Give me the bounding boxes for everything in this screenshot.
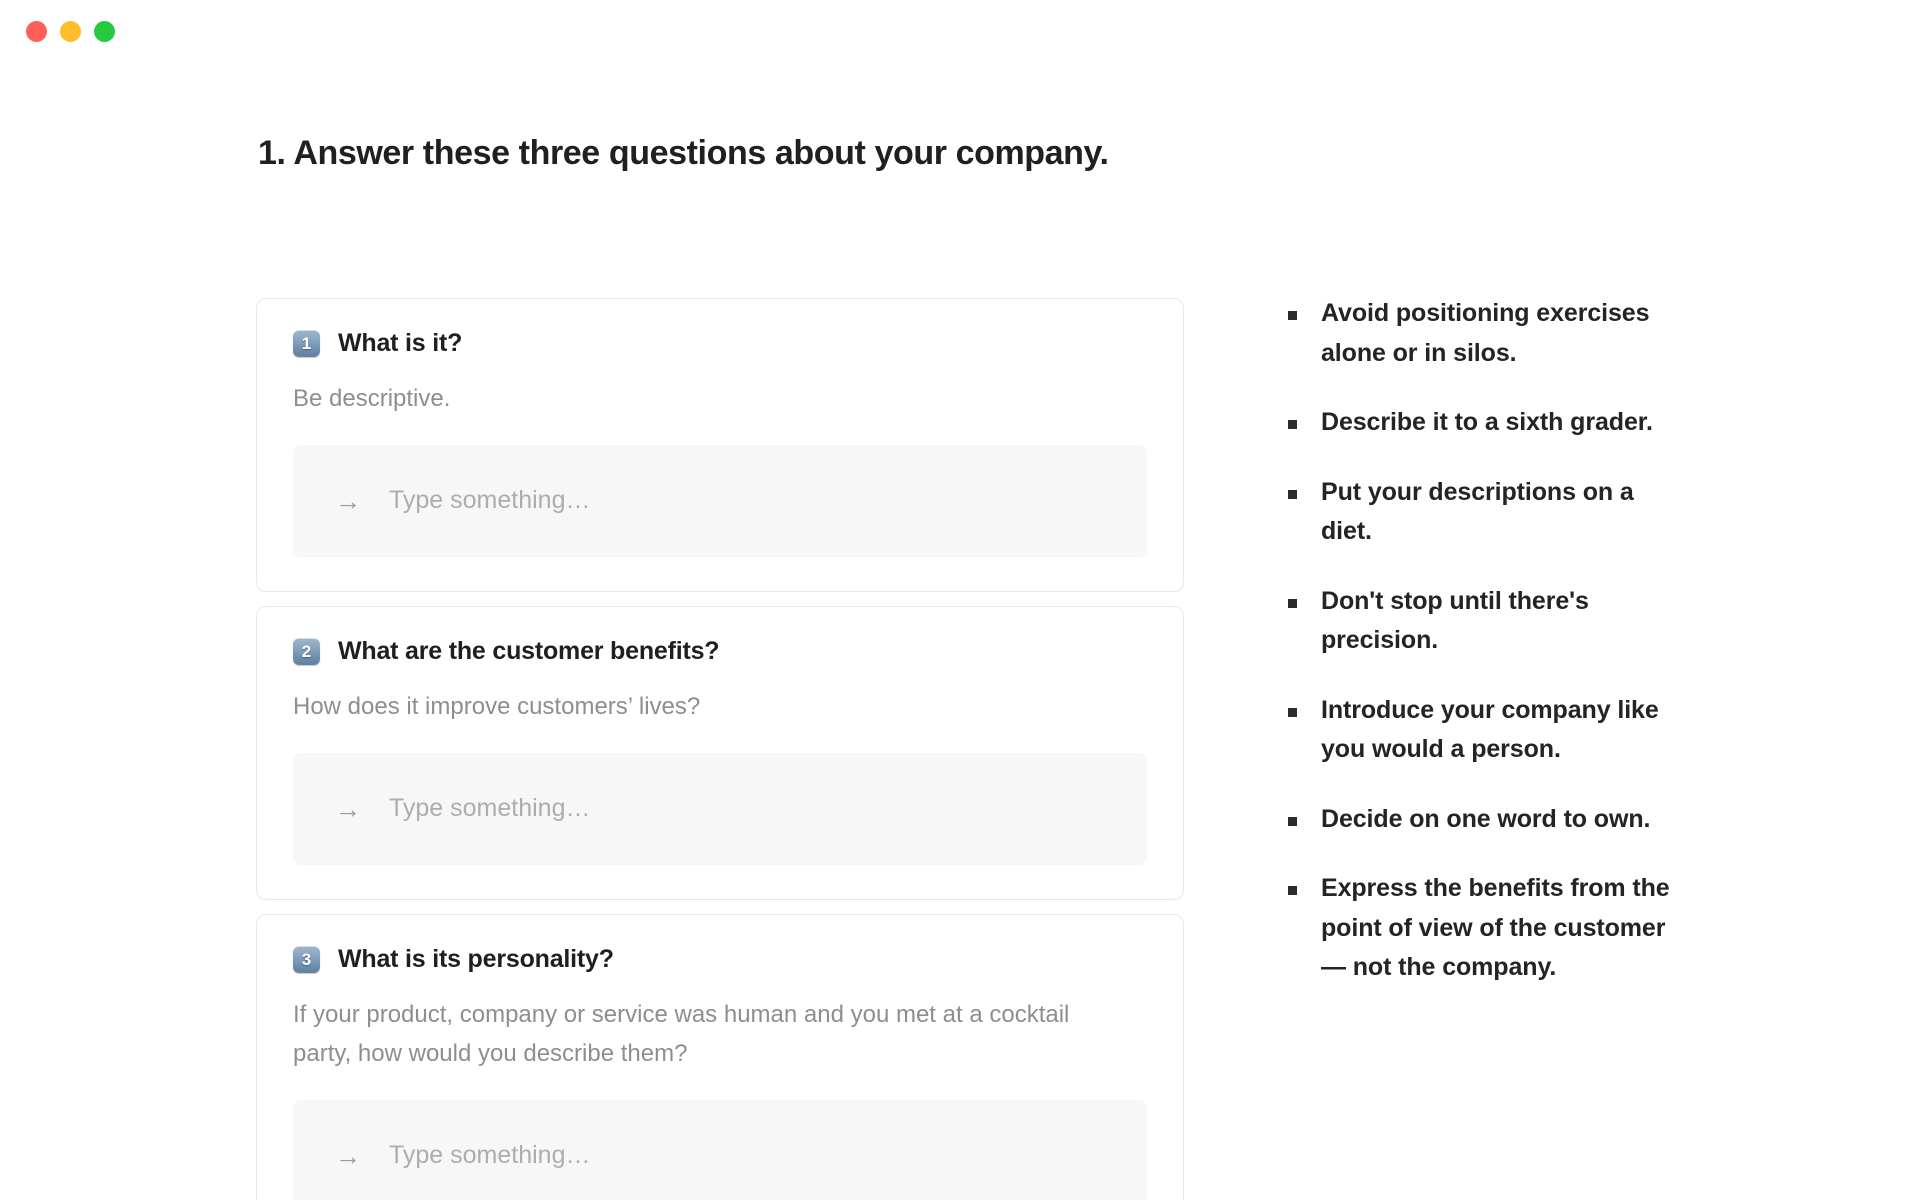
tip-item: Express the benefits from the point of v…: [1288, 869, 1688, 988]
answer-placeholder: Type something…: [389, 1141, 591, 1170]
question-card: 2What are the customer benefits?How does…: [256, 606, 1184, 900]
question-card: 3What is its personality?If your product…: [256, 914, 1184, 1200]
tip-item: Avoid positioning exercises alone or in …: [1288, 294, 1688, 373]
arrow-right-icon: →: [335, 488, 361, 514]
bullet-square-icon: [1288, 817, 1297, 826]
maximize-window-button[interactable]: [94, 21, 115, 42]
answer-input-field[interactable]: →Type something…: [293, 445, 1147, 557]
bullet-square-icon: [1288, 311, 1297, 320]
bullet-square-icon: [1288, 599, 1297, 608]
tip-text: Put your descriptions on a diet.: [1321, 473, 1688, 552]
bullet-square-icon: [1288, 886, 1297, 895]
bullet-square-icon: [1288, 708, 1297, 717]
bullet-square-icon: [1288, 420, 1297, 429]
tip-item: Decide on one word to own.: [1288, 800, 1688, 840]
window-titlebar: [0, 0, 1920, 62]
question-card: 1What is it?Be descriptive.→Type somethi…: [256, 298, 1184, 592]
tip-text: Introduce your company like you would a …: [1321, 691, 1688, 770]
question-title: What is it?: [338, 329, 462, 358]
question-subtitle: How does it improve customers’ lives?: [293, 688, 1093, 727]
answer-placeholder: Type something…: [389, 486, 591, 515]
question-title: What is its personality?: [338, 945, 614, 974]
question-subtitle: If your product, company or service was …: [293, 996, 1093, 1074]
page-title: 1. Answer these three questions about yo…: [258, 134, 1109, 173]
minimize-window-button[interactable]: [60, 21, 81, 42]
question-header: 2What are the customer benefits?: [293, 637, 1147, 666]
tip-text: Avoid positioning exercises alone or in …: [1321, 294, 1688, 373]
answer-input-field[interactable]: →Type something…: [293, 753, 1147, 865]
question-number-badge: 2: [293, 638, 320, 665]
answer-placeholder: Type something…: [389, 794, 591, 823]
tip-text: Describe it to a sixth grader.: [1321, 403, 1653, 443]
tip-item: Put your descriptions on a diet.: [1288, 473, 1688, 552]
close-window-button[interactable]: [26, 21, 47, 42]
tip-item: Describe it to a sixth grader.: [1288, 403, 1688, 443]
answer-input-field[interactable]: →Type something…: [293, 1100, 1147, 1200]
tip-text: Decide on one word to own.: [1321, 800, 1650, 840]
question-title: What are the customer benefits?: [338, 637, 719, 666]
tip-item: Introduce your company like you would a …: [1288, 691, 1688, 770]
question-number-badge: 1: [293, 330, 320, 357]
arrow-right-icon: →: [335, 1143, 361, 1169]
questions-list: 1What is it?Be descriptive.→Type somethi…: [256, 298, 1184, 1200]
tip-text: Don't stop until there's precision.: [1321, 582, 1688, 661]
question-number-badge: 3: [293, 946, 320, 973]
question-subtitle: Be descriptive.: [293, 380, 1093, 419]
question-header: 1What is it?: [293, 329, 1147, 358]
tips-list: Avoid positioning exercises alone or in …: [1288, 294, 1688, 1018]
question-header: 3What is its personality?: [293, 945, 1147, 974]
tip-text: Express the benefits from the point of v…: [1321, 869, 1688, 988]
tip-item: Don't stop until there's precision.: [1288, 582, 1688, 661]
page-content: 1. Answer these three questions about yo…: [0, 62, 1920, 1200]
arrow-right-icon: →: [335, 796, 361, 822]
bullet-square-icon: [1288, 490, 1297, 499]
traffic-lights: [26, 21, 115, 42]
